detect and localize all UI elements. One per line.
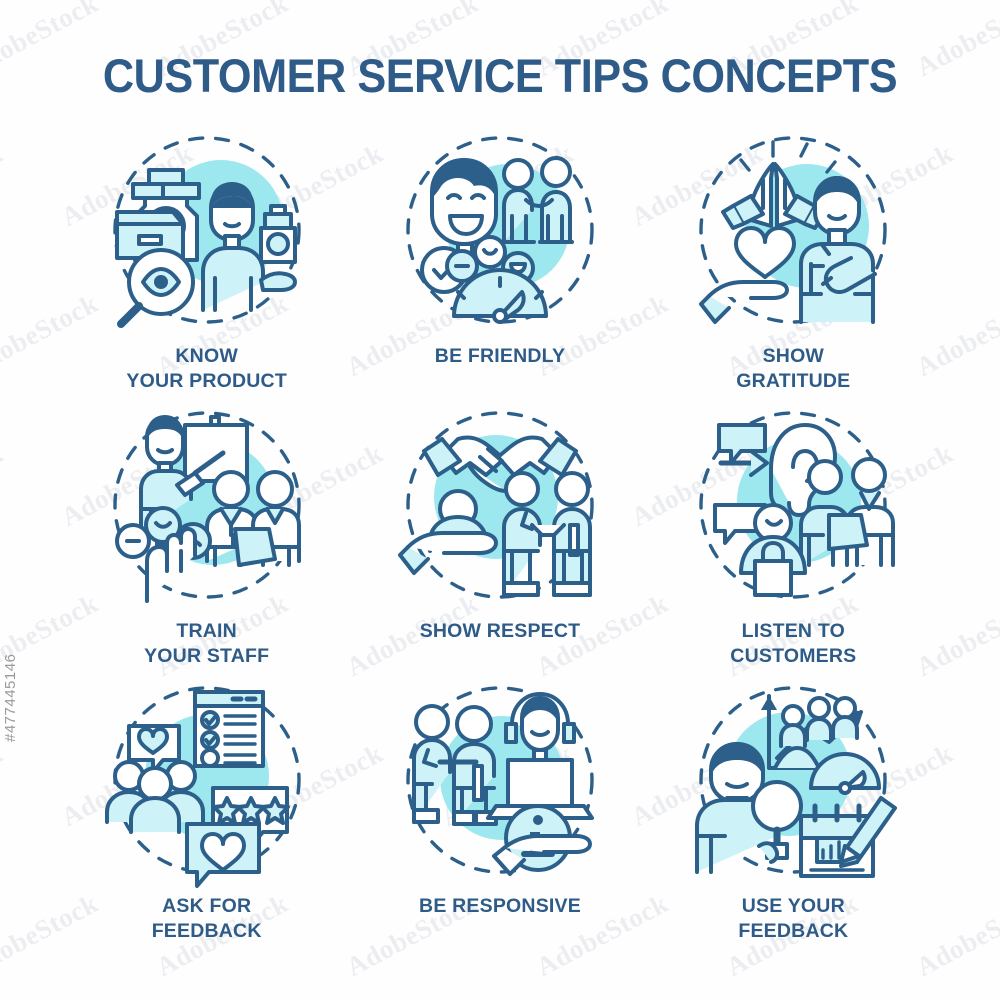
concept-label-line2: GRATITUDE <box>736 369 850 394</box>
concept-use-your-feedback[interactable]: USE YOUR FEEDBACK <box>647 680 940 955</box>
concept-show-gratitude[interactable]: SHOW GRATITUDE <box>647 130 940 405</box>
stock-id-watermark: #477445146 <box>2 654 19 742</box>
concept-label-line2: YOUR STAFF <box>144 644 269 669</box>
page-title: CUSTOMER SERVICE TIPS CONCEPTS <box>40 48 960 103</box>
concept-be-responsive[interactable]: BE RESPONSIVE <box>353 680 646 955</box>
concept-label-line1: SHOW RESPECT <box>420 620 581 642</box>
concept-train-your-staff[interactable]: TRAIN YOUR STAFF <box>60 405 353 680</box>
concept-label-line1: BE FRIENDLY <box>435 345 565 367</box>
poster-canvas: AdobeStockAdobeStockAdobeStockAdobeStock… <box>0 0 1000 1000</box>
icon-show-gratitude <box>689 130 897 338</box>
concept-show-respect[interactable]: SHOW RESPECT <box>353 405 646 680</box>
concept-label: USE YOUR FEEDBACK <box>738 894 848 944</box>
concept-know-your-product[interactable]: KNOW YOUR PRODUCT <box>60 130 353 405</box>
concept-label: TRAIN YOUR STAFF <box>144 619 269 669</box>
concept-label-line1: BE RESPONSIVE <box>419 895 581 917</box>
concept-ask-for-feedback[interactable]: ASK FOR FEEDBACK <box>60 680 353 955</box>
icon-be-responsive <box>396 680 604 888</box>
concept-label-line1: TRAIN <box>176 620 237 642</box>
icon-listen-to-customers <box>689 405 897 613</box>
icon-show-respect <box>396 405 604 613</box>
concepts-grid: KNOW YOUR PRODUCT <box>60 130 940 955</box>
concept-label-line1: USE YOUR <box>742 895 845 917</box>
icon-use-your-feedback <box>689 680 897 888</box>
concept-label-line1: SHOW <box>763 345 824 367</box>
concept-label-line1: KNOW <box>175 345 238 367</box>
concept-label-line2: FEEDBACK <box>152 919 262 944</box>
concept-label-line1: ASK FOR <box>162 895 251 917</box>
icon-know-your-product <box>103 130 311 338</box>
concept-label-line1: LISTEN TO <box>742 620 845 642</box>
concept-label: BE FRIENDLY <box>435 344 565 369</box>
concept-label-line2: CUSTOMERS <box>730 644 856 669</box>
watermark-text: AdobeStock <box>0 438 8 533</box>
icon-be-friendly <box>396 130 604 338</box>
concept-label-line2: YOUR PRODUCT <box>126 369 287 394</box>
concept-label: KNOW YOUR PRODUCT <box>126 344 287 394</box>
concept-label: LISTEN TO CUSTOMERS <box>730 619 856 669</box>
icon-train-your-staff <box>103 405 311 613</box>
concept-label: BE RESPONSIVE <box>419 894 581 919</box>
concept-label: SHOW RESPECT <box>420 619 581 644</box>
concept-label-line2: FEEDBACK <box>738 919 848 944</box>
concept-label: ASK FOR FEEDBACK <box>152 894 262 944</box>
concept-listen-to-customers[interactable]: LISTEN TO CUSTOMERS <box>647 405 940 680</box>
watermark-text: AdobeStock <box>0 738 8 833</box>
concept-label: SHOW GRATITUDE <box>736 344 850 394</box>
watermark-text: AdobeStock <box>0 138 8 233</box>
concept-be-friendly[interactable]: BE FRIENDLY <box>353 130 646 405</box>
icon-ask-for-feedback <box>103 680 311 888</box>
